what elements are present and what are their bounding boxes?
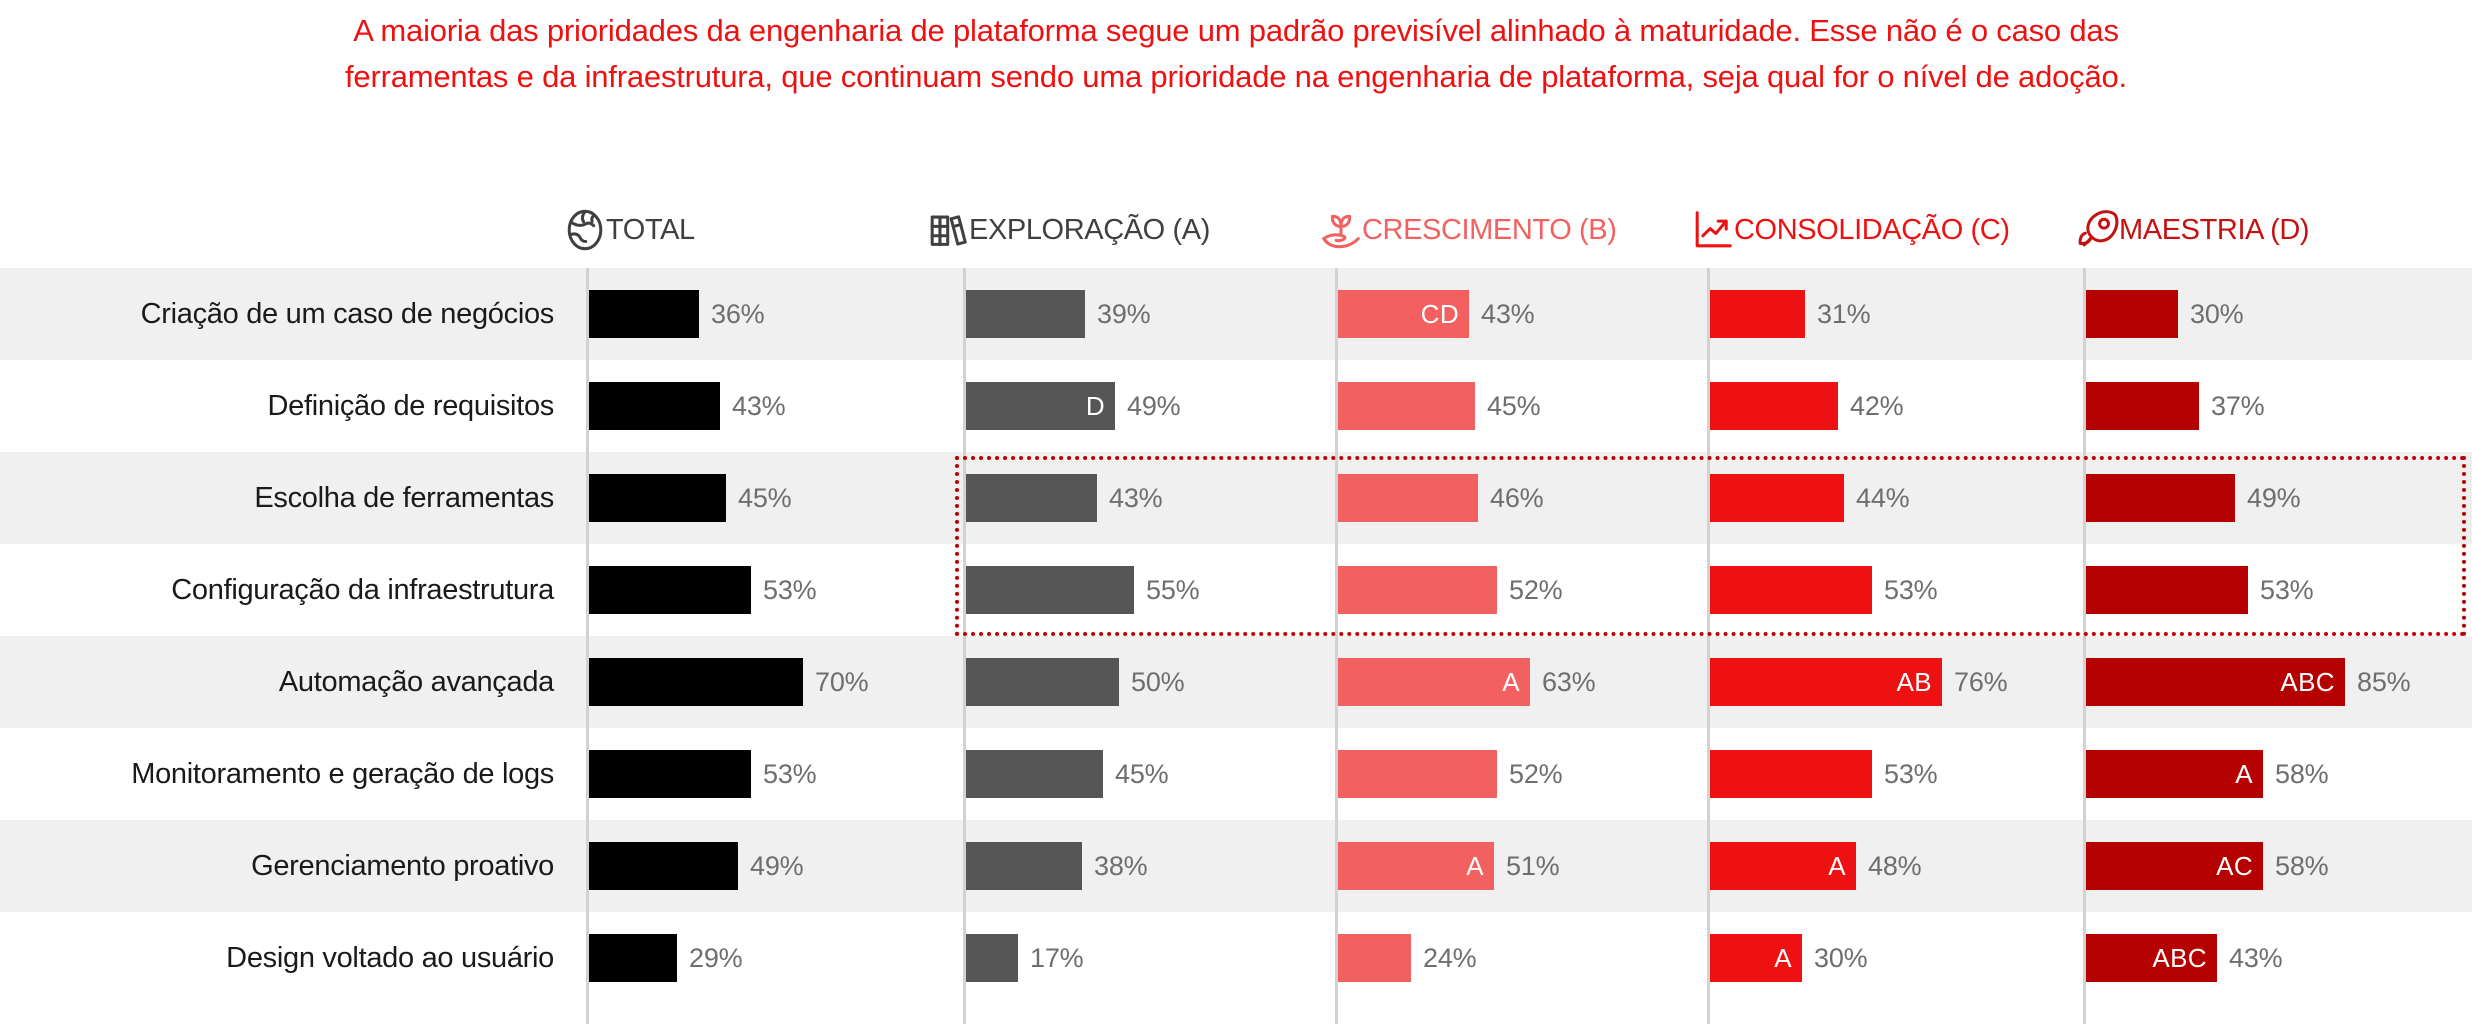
bar-value-label: 63% <box>1542 658 1595 706</box>
plot-area: Criação de um caso de negóciosDefinição … <box>0 268 2472 1024</box>
bar-group-total: 53% <box>589 544 901 636</box>
bar[interactable] <box>966 474 1097 522</box>
bar-value-label: 55% <box>1146 566 1199 614</box>
sprout-hand-icon <box>1318 207 1364 253</box>
bar-group-consolidacao: 53% <box>1710 544 2022 636</box>
bar-value-label: 38% <box>1094 842 1147 890</box>
bar-group-crescimento: 45% <box>1338 360 1625 452</box>
bar-group-crescimento: 24% <box>1338 912 1561 1004</box>
bar-group-crescimento: 52% <box>1338 728 1647 820</box>
bar-value-label: 51% <box>1506 842 1559 890</box>
bar-group-consolidacao: 31% <box>1710 268 1955 360</box>
bar-value-label: 44% <box>1856 474 1909 522</box>
bar-group-consolidacao: A30% <box>1710 912 1952 1004</box>
bar[interactable] <box>966 290 1085 338</box>
column-header-crescimento: CRESCIMENTO (B) <box>1318 202 1616 258</box>
chart-title: A maioria das prioridades da engenharia … <box>0 8 2472 100</box>
bar-value-label: 76% <box>1954 658 2007 706</box>
bar-group-total: 43% <box>589 360 870 452</box>
bar[interactable] <box>966 566 1134 614</box>
row-label: Gerenciamento proativo <box>0 820 572 912</box>
bar-group-exploracao: D49% <box>966 360 1265 452</box>
bar-value-label: 52% <box>1509 566 1562 614</box>
bar[interactable] <box>589 658 803 706</box>
bar[interactable] <box>1710 750 1872 798</box>
bar[interactable] <box>2086 474 2235 522</box>
bar[interactable] <box>1338 382 1475 430</box>
significance-marker: D <box>1086 391 1115 422</box>
bar-group-maestria: 49% <box>2086 452 2385 544</box>
bar-group-exploracao: 17% <box>966 912 1168 1004</box>
significance-marker: A <box>1466 851 1494 882</box>
bar[interactable] <box>2086 566 2248 614</box>
bar[interactable] <box>589 382 720 430</box>
column-header-total: TOTAL <box>562 202 695 258</box>
bar[interactable]: A <box>1338 658 1530 706</box>
bar-value-label: 53% <box>2260 566 2313 614</box>
bar[interactable] <box>966 842 1082 890</box>
line-chart-up-icon <box>1690 207 1736 253</box>
bar-value-label: 45% <box>1115 750 1168 798</box>
bar-group-crescimento: 52% <box>1338 544 1647 636</box>
column-header-label: TOTAL <box>606 214 695 247</box>
bar-value-label: 52% <box>1509 750 1562 798</box>
bar-group-maestria: ABC43% <box>2086 912 2367 1004</box>
bar-value-label: 36% <box>711 290 764 338</box>
bar-group-total: 49% <box>589 820 888 912</box>
column-header-exploracao: EXPLORAÇÃO (A) <box>925 202 1210 258</box>
row-label: Configuração da infraestrutura <box>0 544 572 636</box>
bar[interactable] <box>966 658 1119 706</box>
column-header-label: MAESTRIA (D) <box>2119 214 2309 247</box>
bar-group-exploracao: 45% <box>966 728 1253 820</box>
bar-group-exploracao: 55% <box>966 544 1284 636</box>
bar-value-label: 45% <box>1487 382 1540 430</box>
bar-value-label: 49% <box>1127 382 1180 430</box>
bar[interactable] <box>2086 382 2199 430</box>
bar-group-consolidacao: 42% <box>1710 360 1988 452</box>
bar-group-maestria: 53% <box>2086 544 2398 636</box>
bar-group-exploracao: 38% <box>966 820 1232 912</box>
bar-value-label: 53% <box>1884 750 1937 798</box>
bar-group-crescimento: A51% <box>1338 820 1644 912</box>
bar-group-maestria: A58% <box>2086 728 2413 820</box>
bar-value-label: 43% <box>2229 934 2282 982</box>
bar[interactable] <box>1338 474 1478 522</box>
bar[interactable] <box>2086 290 2178 338</box>
bar-group-maestria: 30% <box>2086 268 2328 360</box>
bar-value-label: 24% <box>1423 934 1476 982</box>
bar-group-total: 36% <box>589 268 849 360</box>
bar-value-label: 85% <box>2357 658 2410 706</box>
bar[interactable]: A <box>1338 842 1494 890</box>
column-header-label: CRESCIMENTO (B) <box>1362 214 1616 247</box>
bar[interactable]: A <box>2086 750 2263 798</box>
significance-marker: A <box>1774 943 1802 974</box>
books-icon <box>925 207 971 253</box>
column-header-label: EXPLORAÇÃO (A) <box>969 214 1210 247</box>
row-label: Criação de um caso de negócios <box>0 268 572 360</box>
bar[interactable] <box>1710 566 1872 614</box>
significance-marker: A <box>1502 667 1530 698</box>
bar-group-crescimento: 46% <box>1338 452 1628 544</box>
bar[interactable]: ABC <box>2086 658 2345 706</box>
bar-group-exploracao: 50% <box>966 636 1269 728</box>
bar-value-label: 50% <box>1131 658 1184 706</box>
bar-value-label: 43% <box>732 382 785 430</box>
significance-marker: AC <box>2216 851 2263 882</box>
bar-group-consolidacao: A48% <box>1710 820 2006 912</box>
bar-value-label: 30% <box>1814 934 1867 982</box>
rocket-icon <box>2075 207 2121 253</box>
column-header-consolidacao: CONSOLIDAÇÃO (C) <box>1690 202 2010 258</box>
column-header-row: TOTALEXPLORAÇÃO (A)CRESCIMENTO (B)CONSOL… <box>0 190 2472 268</box>
bar[interactable] <box>966 750 1103 798</box>
bar-value-label: 43% <box>1109 474 1162 522</box>
bar-group-consolidacao: 53% <box>1710 728 2022 820</box>
significance-marker: ABC <box>2152 943 2217 974</box>
chart-title-line-1: A maioria das prioridades da engenharia … <box>0 8 2472 54</box>
bar-group-crescimento: A63% <box>1338 636 1680 728</box>
row-label: Escolha de ferramentas <box>0 452 572 544</box>
significance-marker: ABC <box>2280 667 2345 698</box>
row-label: Monitoramento e geração de logs <box>0 728 572 820</box>
bar-group-crescimento: CD43% <box>1338 268 1619 360</box>
bar-value-label: 53% <box>763 750 816 798</box>
bar[interactable] <box>589 290 699 338</box>
bar[interactable] <box>589 934 677 982</box>
bar[interactable] <box>589 474 726 522</box>
bar-value-label: 70% <box>815 658 868 706</box>
bar[interactable]: A <box>1710 842 1856 890</box>
bar[interactable]: ABC <box>2086 934 2217 982</box>
grouped-bar-chart: TOTALEXPLORAÇÃO (A)CRESCIMENTO (B)CONSOL… <box>0 190 2472 1024</box>
bar[interactable] <box>589 566 751 614</box>
bar-value-label: 39% <box>1097 290 1150 338</box>
row-label: Design voltado ao usuário <box>0 912 572 1004</box>
bar[interactable] <box>589 750 751 798</box>
bar[interactable] <box>1710 382 1838 430</box>
bar[interactable]: D <box>966 382 1115 430</box>
significance-marker: CD <box>1421 299 1469 330</box>
bar[interactable]: AC <box>2086 842 2263 890</box>
bar[interactable] <box>966 934 1018 982</box>
bar-group-total: 53% <box>589 728 901 820</box>
significance-marker: AB <box>1897 667 1942 698</box>
bar-value-label: 58% <box>2275 842 2328 890</box>
bar-group-consolidacao: AB76% <box>1710 636 2092 728</box>
bar-value-label: 17% <box>1030 934 1083 982</box>
significance-marker: A <box>2235 759 2263 790</box>
bar-value-label: 49% <box>2247 474 2300 522</box>
bar-value-label: 42% <box>1850 382 1903 430</box>
row-label: Automação avançada <box>0 636 572 728</box>
bar-group-consolidacao: 44% <box>1710 452 1994 544</box>
bar-group-exploracao: 43% <box>966 452 1247 544</box>
bar-value-label: 31% <box>1817 290 1870 338</box>
significance-marker: A <box>1828 851 1856 882</box>
row-label: Definição de requisitos <box>0 360 572 452</box>
bar[interactable] <box>1338 934 1411 982</box>
bar-value-label: 53% <box>763 566 816 614</box>
bar-group-exploracao: 39% <box>966 268 1235 360</box>
bar[interactable] <box>1338 566 1497 614</box>
bar-value-label: 29% <box>689 934 742 982</box>
bar-value-label: 37% <box>2211 382 2264 430</box>
bar-group-maestria: ABC85% <box>2086 636 2472 728</box>
column-header-maestria: MAESTRIA (D) <box>2075 202 2309 258</box>
column-header-label: CONSOLIDAÇÃO (C) <box>1734 214 2010 247</box>
bar[interactable] <box>589 842 738 890</box>
bar[interactable] <box>1710 474 1844 522</box>
bar-value-label: 58% <box>2275 750 2328 798</box>
chart-title-line-2: ferramentas e da infraestrutura, que con… <box>0 54 2472 100</box>
bar-group-total: 29% <box>589 912 827 1004</box>
bar-group-maestria: AC58% <box>2086 820 2413 912</box>
bar-value-label: 30% <box>2190 290 2243 338</box>
bar-value-label: 45% <box>738 474 791 522</box>
bar-value-label: 49% <box>750 842 803 890</box>
bar-group-total: 70% <box>589 636 953 728</box>
globe-icon <box>562 207 608 253</box>
bar[interactable]: AB <box>1710 658 1942 706</box>
bar-group-total: 45% <box>589 452 876 544</box>
bar[interactable] <box>1710 290 1805 338</box>
bar-value-label: 46% <box>1490 474 1543 522</box>
bar-value-label: 43% <box>1481 290 1534 338</box>
bar-value-label: 48% <box>1868 842 1921 890</box>
bar[interactable]: CD <box>1338 290 1469 338</box>
bar-group-maestria: 37% <box>2086 360 2349 452</box>
bar-value-label: 53% <box>1884 566 1937 614</box>
bar[interactable] <box>1338 750 1497 798</box>
bar[interactable]: A <box>1710 934 1802 982</box>
